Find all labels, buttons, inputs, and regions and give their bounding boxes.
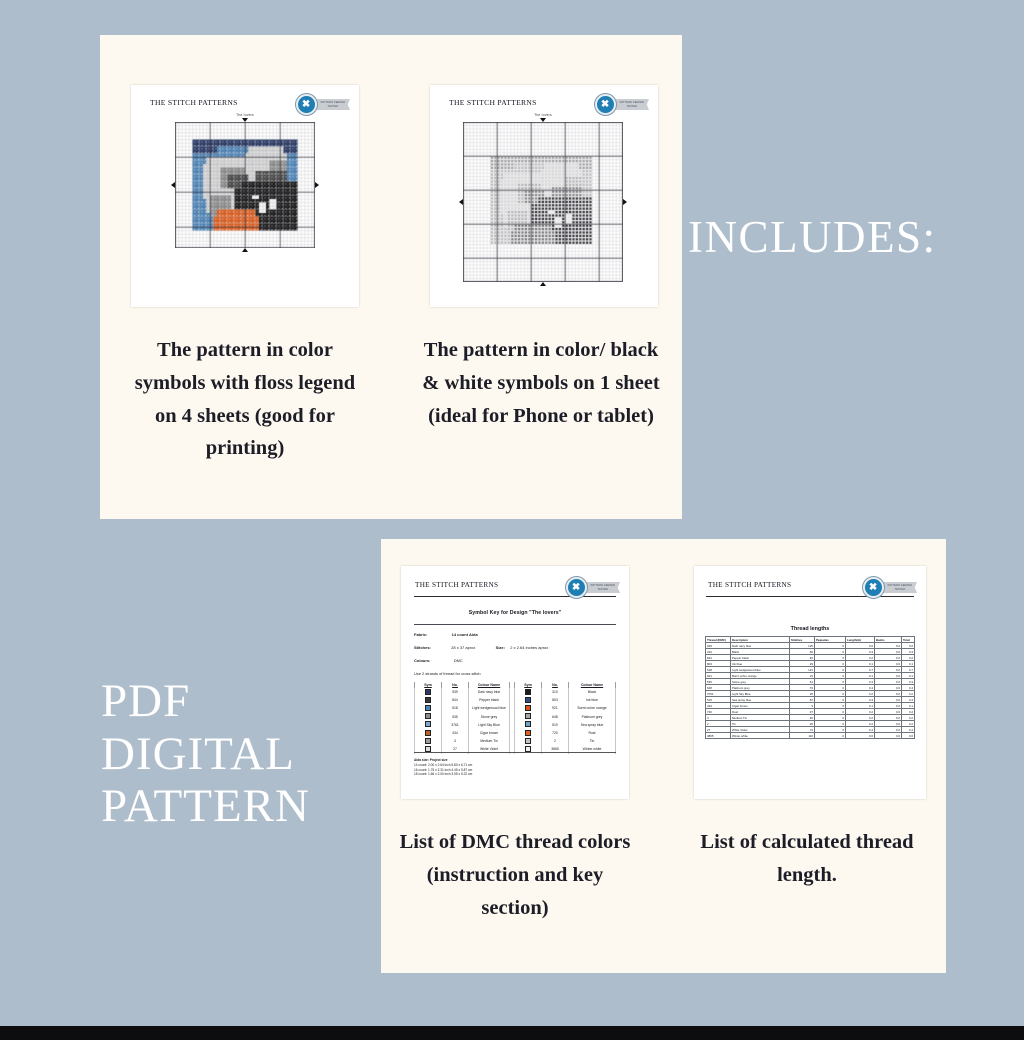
badge-line-1: PATTERN KEEPER (591, 584, 615, 588)
spec-fabric-label: Fabric: (414, 632, 427, 637)
thread-lengths-table: Thread (DMC) Description Stitches Pequel… (705, 636, 915, 739)
badge-line-1: PATTERN KEEPER (888, 584, 912, 588)
thread-lengths-title: Thread lengths (694, 626, 926, 632)
cell-number: 939 (442, 688, 469, 696)
cell-number: 3 (442, 737, 469, 745)
symbol-swatch-icon (525, 738, 531, 744)
sheet-thread-lengths: THE STITCH PATTERNS ✖ PATTERN KEEPER TES… (694, 566, 926, 799)
thread-lengths-rows: 939Dark navy blue12500.60.00.6310Black66… (706, 643, 915, 739)
cell-number: 518 (442, 704, 469, 712)
color-chart-canvas (175, 122, 315, 248)
symbol-key-rows-left: 939Dark navy blue844Pepper black518Light… (415, 688, 510, 754)
table-row: 939Dark navy blue (415, 688, 510, 696)
badge-line-1: PATTERN KEEPER (620, 101, 644, 105)
bw-chart-canvas (463, 122, 623, 282)
symbol-swatch-icon (425, 697, 431, 703)
cell-colour-name: Dark navy blue (469, 688, 510, 696)
header-divider (414, 596, 616, 597)
sheet-color-symbols: THE STITCH PATTERNS ✖ PATTERN KEEPER TES… (131, 85, 359, 307)
symbol-swatch-icon (525, 721, 531, 727)
cell-description: Winter white (731, 733, 790, 739)
cell-symbol (415, 688, 442, 696)
badge-ribbon: PATTERN KEEPER TESTED (313, 99, 350, 110)
cell-number: 803 (542, 696, 569, 704)
badge-line-2: TESTED (591, 588, 615, 592)
color-chart: The lovers (175, 122, 315, 248)
subtitle-divider (414, 624, 616, 625)
caption-dmc-list: List of DMC thread colors (instruction a… (399, 826, 631, 924)
spec-stitches-value: 28 x 37 aprox (451, 645, 475, 650)
cell-pequelas: 0 (815, 733, 846, 739)
cell-number: 535 (442, 713, 469, 721)
table-row: 2Tin (515, 737, 616, 745)
symbol-key-subtitle: Symbol Key for Design "The lovers" (401, 610, 629, 616)
symbol-swatch-icon (525, 705, 531, 711)
badge-seal-icon: ✖ (566, 577, 587, 598)
cell-backs: 0.0 (875, 733, 902, 739)
symbol-swatch-icon (425, 713, 431, 719)
pdf-heading-line-3: PATTERN (101, 780, 371, 833)
pattern-keeper-tested-badge: ✖ PATTERN KEEPER TESTED (595, 94, 649, 115)
spec-stitches: Stitches: 28 x 37 aprox Size: 2 x 2.64 i… (414, 645, 548, 650)
aida-title: Aida size: Project size (414, 758, 447, 762)
cell-symbol (515, 688, 542, 696)
spec-fabric-value: 14 count Aida (452, 632, 478, 637)
cell-colour-name: Stone grey (469, 713, 510, 721)
cell-length: 0.6 (846, 733, 875, 739)
sheet-brand-title: THE STITCH PATTERNS (415, 581, 498, 589)
chart-design-label: The lovers (463, 113, 623, 117)
chart-design-label: The lovers (175, 113, 315, 117)
table-row: 921Burnt ochre orange (515, 704, 616, 712)
cell-number: 648 (542, 713, 569, 721)
cell-symbol (415, 696, 442, 704)
badge-seal-icon: ✖ (595, 94, 616, 115)
table-row: 3Medium Tin (415, 737, 510, 745)
aida-size-block: Aida size: Project size 14 count: 2.00 x… (414, 758, 472, 777)
badge-line-2: TESTED (888, 588, 912, 592)
spec-size-value: 2 x 2.64 inches aprox (510, 645, 548, 650)
symbol-swatch-icon (425, 730, 431, 736)
cell-colour-name: Rust (569, 729, 616, 737)
table-row: 803Ink blue (515, 696, 616, 704)
symbol-swatch-icon (425, 746, 431, 752)
cell-colour-name: Platinum grey (569, 713, 616, 721)
cell-symbol (515, 696, 542, 704)
symbol-swatch-icon (425, 738, 431, 744)
cell-number: 921 (542, 704, 569, 712)
chart-marker-top-icon (242, 118, 248, 122)
cell-colour-name: Burnt ochre orange (569, 704, 616, 712)
cell-colour-name: Tin (569, 737, 616, 745)
badge-seal-icon: ✖ (296, 94, 317, 115)
table-row: 648Platinum grey (515, 713, 616, 721)
cell-symbol (515, 729, 542, 737)
cell-colour-name: Medium Tin (469, 737, 510, 745)
spec-colours: Colours: DMC (414, 658, 463, 663)
pattern-keeper-tested-badge: ✖ PATTERN KEEPER TESTED (566, 577, 620, 598)
cell-colour-name: Sea spray blue (569, 721, 616, 729)
sheet-brand-title: THE STITCH PATTERNS (449, 98, 537, 107)
spec-stitches-label: Stitches: (414, 645, 431, 650)
badge-seal-icon: ✖ (863, 577, 884, 598)
cell-symbol (415, 721, 442, 729)
caption-color-symbols: The pattern in color symbols with floss … (131, 334, 359, 465)
cell-symbol (415, 729, 442, 737)
pdf-digital-pattern-heading: PDF DIGITAL PATTERN (101, 675, 371, 833)
cell-thread-id: 3865 (706, 733, 731, 739)
chart-marker-top-icon (540, 118, 546, 122)
cell-symbol (415, 704, 442, 712)
table-row: 535Stone grey (415, 713, 510, 721)
sheet-brand-title: THE STITCH PATTERNS (708, 581, 791, 589)
strands-note: Use 2 strands of thread for cross stitch (414, 671, 481, 676)
cell-colour-name: Pepper black (469, 696, 510, 704)
sheet-bw-symbols: THE STITCH PATTERNS ✖ PATTERN KEEPER TES… (430, 85, 658, 307)
table-row: 844Pepper black (415, 696, 510, 704)
spec-fabric: Fabric: 14 count Aida (414, 632, 478, 637)
symbol-swatch-icon (525, 746, 531, 752)
chart-marker-left-icon (459, 199, 463, 205)
bottom-strip (0, 1026, 1024, 1040)
cell-symbol (515, 721, 542, 729)
cell-number: 434 (442, 729, 469, 737)
caption-thread-length: List of calculated thread length. (687, 826, 927, 892)
cell-number: 519 (542, 721, 569, 729)
table-row: 720Rust (515, 729, 616, 737)
table-row: 310Black (515, 688, 616, 696)
spec-size-label: Size: (496, 645, 505, 650)
table-row: 519Sea spray blue (515, 721, 616, 729)
sheet-brand-title: THE STITCH PATTERNS (150, 98, 238, 107)
badge-line-1: PATTERN KEEPER (321, 101, 345, 105)
symbol-key-rows-right: 310Black803Ink blue921Burnt ochre orange… (515, 688, 616, 754)
symbol-swatch-icon (425, 721, 431, 727)
symbol-swatch-icon (425, 689, 431, 695)
cell-colour-name: Light Sky Blue (469, 721, 510, 729)
table-row: 3761Light Sky Blue (415, 721, 510, 729)
col-thread-dmc-label: Thread (DMC) (707, 638, 726, 642)
chart-marker-left-icon (171, 182, 175, 188)
pdf-heading-line-2: DIGITAL (101, 728, 371, 781)
pdf-heading-line-1: PDF (101, 675, 371, 728)
pattern-keeper-tested-badge: ✖ PATTERN KEEPER TESTED (296, 94, 350, 115)
cell-number: 2 (542, 737, 569, 745)
cell-symbol (415, 737, 442, 745)
badge-ribbon: PATTERN KEEPER TESTED (880, 582, 917, 593)
cell-colour-name: Ink blue (569, 696, 616, 704)
chart-marker-right-icon (315, 182, 319, 188)
aida-row: 18 count: 1.56 x 2.00 inch 3.95 x 5.22 c… (414, 772, 472, 777)
table-row: 518Light wedgewood blue (415, 704, 510, 712)
caption-bw-symbols: The pattern in color/ black & white symb… (421, 334, 661, 432)
chart-marker-right-icon (623, 199, 627, 205)
table-row: 434Cigar brown (415, 729, 510, 737)
chart-marker-bottom-icon (540, 282, 546, 286)
badge-ribbon: PATTERN KEEPER TESTED (612, 99, 649, 110)
pattern-keeper-tested-badge: ✖ PATTERN KEEPER TESTED (863, 577, 917, 598)
cell-colour-name: Black (569, 688, 616, 696)
cell-total: 0.6 (902, 733, 915, 739)
chart-marker-bottom-icon (242, 248, 248, 252)
aida-row: 14 count: 2.00 x 2.64 inch 5.80 x 6.71 c… (414, 763, 472, 768)
cell-colour-name: Cigar brown (469, 729, 510, 737)
symbol-swatch-icon (425, 705, 431, 711)
symbol-key-table-right: Sym No. Colour Name 310Black803Ink blue9… (514, 682, 616, 754)
symbol-key-table-left: Sym No. Colour Name 939Dark navy blue844… (414, 682, 510, 754)
table-row: 3865Winter white11000.60.00.6 (706, 733, 915, 739)
cell-stitches: 110 (790, 733, 815, 739)
symbol-swatch-icon (525, 689, 531, 695)
cell-colour-name: Light wedgewood blue (469, 704, 510, 712)
badge-line-2: TESTED (321, 105, 345, 109)
badge-line-2: TESTED (620, 105, 644, 109)
badge-ribbon: PATTERN KEEPER TESTED (583, 582, 620, 593)
cell-symbol (515, 704, 542, 712)
cell-symbol (415, 713, 442, 721)
symbol-swatch-icon (525, 697, 531, 703)
bw-chart: The lovers (463, 122, 623, 282)
spec-colours-value: DMC (454, 658, 463, 663)
header-divider (706, 596, 914, 597)
cell-number: 3761 (442, 721, 469, 729)
symbol-swatch-icon (525, 730, 531, 736)
cell-number: 310 (542, 688, 569, 696)
cell-number: 720 (542, 729, 569, 737)
spec-colours-label: Colours: (414, 658, 430, 663)
cell-number: 844 (442, 696, 469, 704)
footer-divider (414, 752, 616, 753)
includes-heading: INCLUDES: (688, 215, 1010, 260)
sheet-symbol-key: THE STITCH PATTERNS ✖ PATTERN KEEPER TES… (401, 566, 629, 799)
cell-symbol (515, 713, 542, 721)
cell-symbol (515, 737, 542, 745)
symbol-swatch-icon (525, 713, 531, 719)
